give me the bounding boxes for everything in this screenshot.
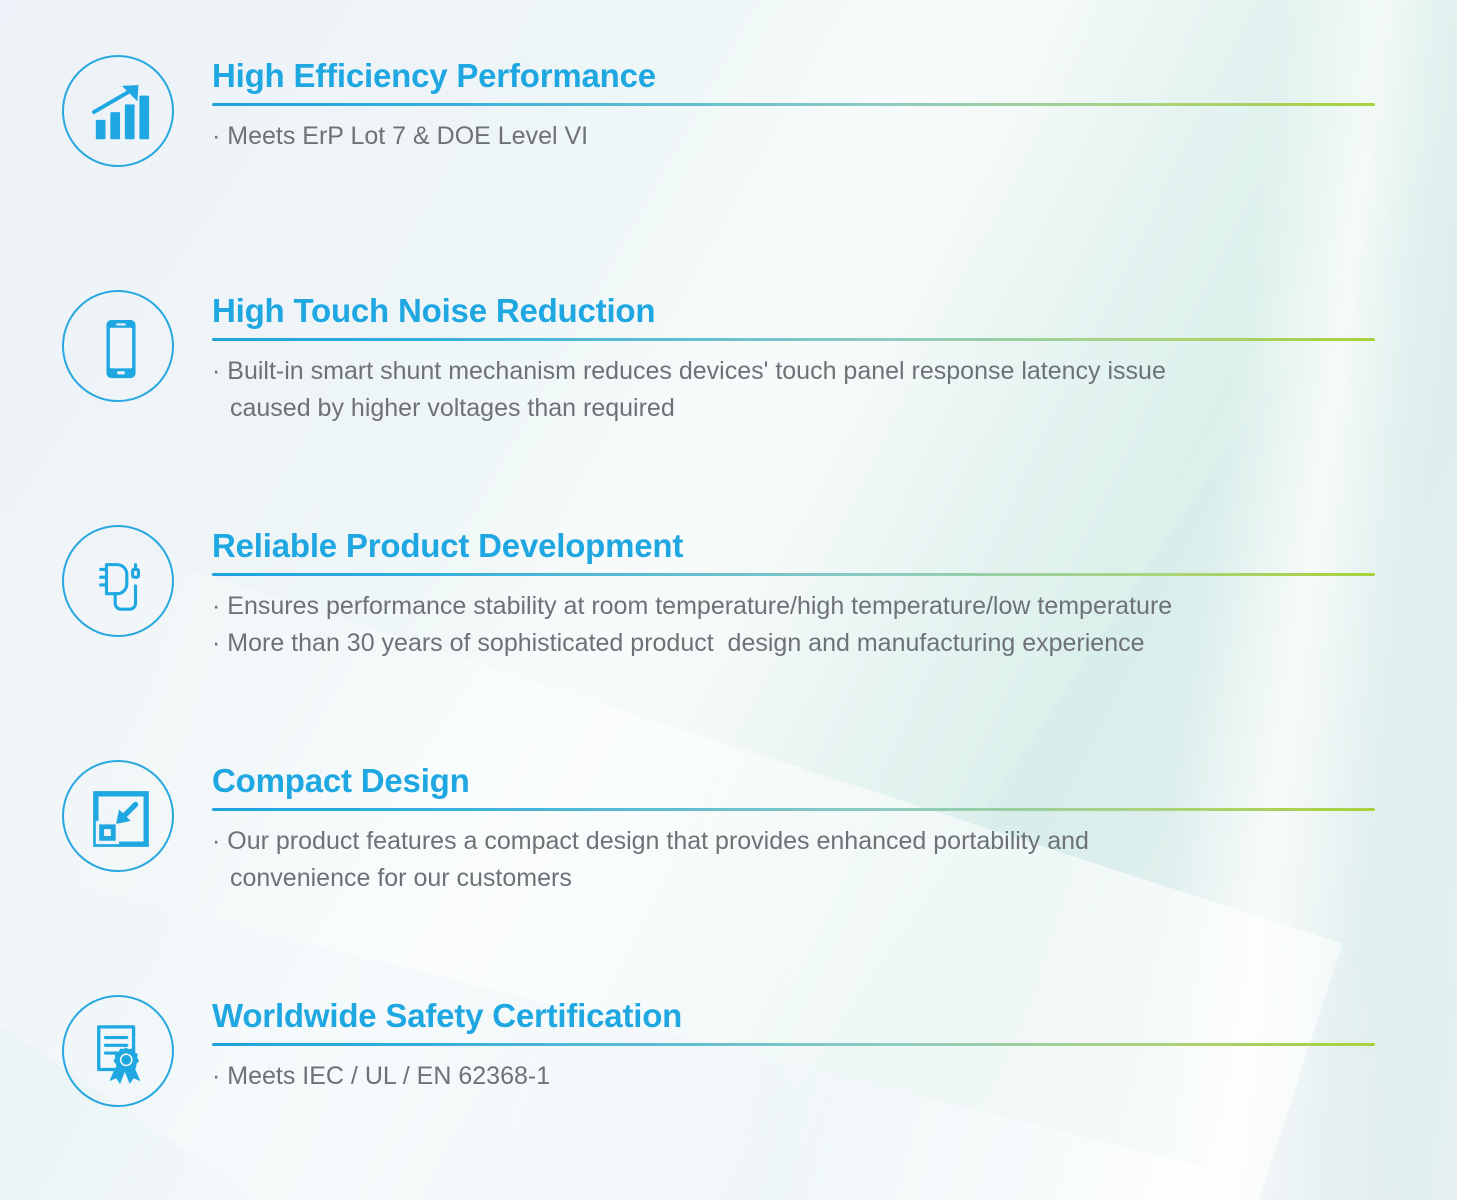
bullet-marker: · xyxy=(212,1062,220,1090)
bullet-text: Built-in smart shunt mechanism reduces d… xyxy=(227,357,1166,385)
feature-icon-wrapper xyxy=(62,525,180,643)
bullet-text: Ensures performance stability at room te… xyxy=(227,592,1172,620)
feature-text-column: Reliable Product Development· Ensures pe… xyxy=(212,526,1392,662)
feature-icon-wrapper xyxy=(62,760,180,878)
bullet-text-continuation: convenience for our customers xyxy=(212,860,1392,897)
bullet-marker: · xyxy=(212,827,220,855)
feature-title: Compact Design xyxy=(212,761,1392,801)
bullet-marker: · xyxy=(212,592,220,620)
feature-icon-wrapper xyxy=(62,290,180,408)
feature-divider-rule xyxy=(212,808,1375,811)
certificate-seal-icon xyxy=(90,1023,152,1085)
compact-resize-icon xyxy=(90,788,152,850)
feature-bullet-list: · Meets ErP Lot 7 & DOE Level VI xyxy=(212,118,1392,155)
feature-icon-wrapper xyxy=(62,55,180,173)
feature-title: Reliable Product Development xyxy=(212,526,1392,566)
feature-bullet: · Ensures performance stability at room … xyxy=(212,588,1392,625)
feature-divider-rule xyxy=(212,573,1375,576)
bullet-text: Meets IEC / UL / EN 62368-1 xyxy=(227,1062,550,1090)
bullet-marker: · xyxy=(212,629,220,657)
bullet-text: More than 30 years of sophisticated prod… xyxy=(227,629,1144,657)
bar-chart-growth-icon xyxy=(90,83,152,145)
feature-text-column: High Touch Noise Reduction· Built-in sma… xyxy=(212,291,1392,427)
feature-bullet: · Meets ErP Lot 7 & DOE Level VI xyxy=(212,118,1392,155)
bullet-marker: · xyxy=(212,357,220,385)
feature-divider-rule xyxy=(212,103,1375,106)
feature-divider-rule xyxy=(212,338,1375,341)
feature-text-column: High Efficiency Performance· Meets ErP L… xyxy=(212,56,1392,155)
bullet-text: Meets ErP Lot 7 & DOE Level VI xyxy=(227,122,588,150)
feature-text-column: Worldwide Safety Certification· Meets IE… xyxy=(212,996,1392,1095)
feature-bullet: · More than 30 years of sophisticated pr… xyxy=(212,625,1392,662)
smartphone-icon xyxy=(90,318,152,380)
feature-bullet-list: · Our product features a compact design … xyxy=(212,823,1392,897)
feature-title: High Efficiency Performance xyxy=(212,56,1392,96)
feature-title: Worldwide Safety Certification xyxy=(212,996,1392,1036)
bullet-marker: · xyxy=(212,122,220,150)
compact-resize-icon xyxy=(90,788,152,850)
feature-bullet: · Meets IEC / UL / EN 62368-1 xyxy=(212,1058,1392,1095)
feature-bullet: · Built-in smart shunt mechanism reduces… xyxy=(212,353,1392,390)
power-adapter-icon xyxy=(90,553,152,615)
smartphone-icon xyxy=(90,318,152,380)
feature-highlights-page: High Efficiency Performance· Meets ErP L… xyxy=(0,0,1457,1200)
feature-text-column: Compact Design· Our product features a c… xyxy=(212,761,1392,897)
bullet-text: Our product features a compact design th… xyxy=(227,827,1089,855)
power-adapter-icon xyxy=(90,553,152,615)
feature-bullet-list: · Ensures performance stability at room … xyxy=(212,588,1392,662)
feature-bullet-list: · Meets IEC / UL / EN 62368-1 xyxy=(212,1058,1392,1095)
certificate-seal-icon xyxy=(90,1023,152,1085)
feature-bullet: · Our product features a compact design … xyxy=(212,823,1392,860)
bar-chart-growth-icon xyxy=(90,83,152,145)
feature-title: High Touch Noise Reduction xyxy=(212,291,1392,331)
feature-bullet-list: · Built-in smart shunt mechanism reduces… xyxy=(212,353,1392,427)
bullet-text-continuation: caused by higher voltages than required xyxy=(212,390,1392,427)
feature-divider-rule xyxy=(212,1043,1375,1046)
feature-icon-wrapper xyxy=(62,995,180,1113)
